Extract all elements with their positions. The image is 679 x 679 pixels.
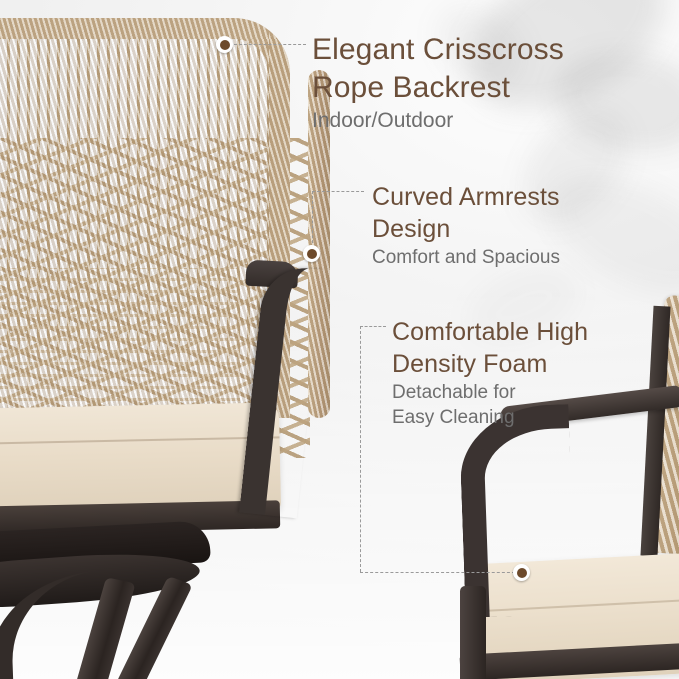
- callout-marker-curved-armrests: [303, 245, 320, 262]
- rope-backrest-frame: [0, 18, 290, 418]
- feature-callout-image: Elegant Crisscross Rope Backrest Indoor/…: [0, 0, 679, 679]
- callout-subtext-line1: Indoor/Outdoor: [312, 107, 564, 134]
- callout-heading-line1: Curved Armrests: [372, 181, 560, 213]
- callout-line-rope-backrest: [234, 44, 306, 45]
- callout-high-density-foam: Comfortable High Density Foam Detachable…: [392, 316, 588, 430]
- callout-heading-line2: Density Foam: [392, 348, 588, 380]
- callout-marker-rope-backrest: [216, 36, 233, 53]
- callout-subtext-line1: Comfort and Spacious: [372, 245, 560, 270]
- callout-line-foam: [360, 572, 515, 573]
- callout-heading-line2: Design: [372, 213, 560, 245]
- callout-marker-high-density-foam: [513, 564, 530, 581]
- callout-rope-backrest: Elegant Crisscross Rope Backrest Indoor/…: [312, 31, 564, 134]
- callout-heading-line1: Comfortable High: [392, 316, 588, 348]
- callout-curved-armrests: Curved Armrests Design Comfort and Spaci…: [372, 181, 560, 270]
- callout-subtext-line2: Easy Cleaning: [392, 405, 588, 430]
- callout-line-foam: [360, 326, 386, 327]
- callout-subtext-line1: Detachable for: [392, 380, 588, 405]
- right-front-leg: [460, 586, 486, 679]
- callout-line-curved-armrests: [312, 191, 313, 253]
- callout-heading-line2: Rope Backrest: [312, 69, 564, 107]
- left-chair-photo: [0, 18, 330, 448]
- callout-line-foam: [360, 326, 361, 572]
- callout-line-curved-armrests: [312, 191, 364, 192]
- callout-heading-line1: Elegant Crisscross: [312, 31, 564, 69]
